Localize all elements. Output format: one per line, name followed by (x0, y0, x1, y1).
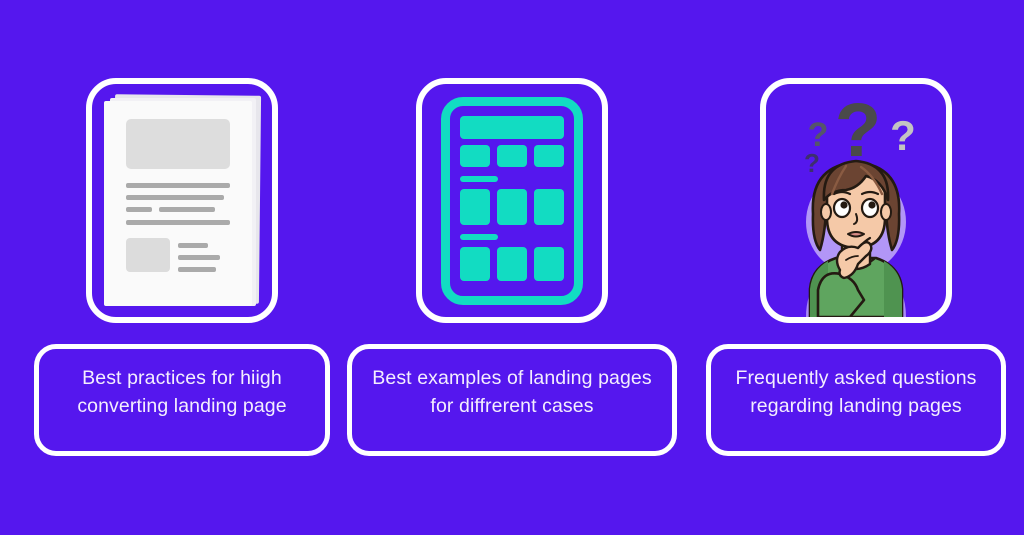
icon-tile-wireframe-layout[interactable] (416, 78, 608, 323)
wireframe-bottom-block (460, 247, 490, 281)
document-text-line (126, 183, 230, 188)
question-mark-small: ? (804, 148, 820, 178)
wireframe-header-bar (460, 116, 564, 139)
wireframe-small-block (497, 145, 527, 167)
wireframe-medium-block (497, 189, 527, 225)
document-text-line (178, 255, 220, 260)
card-label: Best practices for hiigh converting land… (67, 365, 296, 420)
document-text-line (126, 195, 224, 200)
wireframe-rule-line (460, 176, 498, 182)
wireframe-bottom-block (497, 247, 527, 281)
document-text-line (126, 220, 230, 225)
card-column-best-practices: Best practices for hiigh converting land… (32, 0, 332, 535)
document-text-line (178, 243, 208, 248)
wireframe-inner (460, 116, 564, 286)
text-card-best-practices[interactable]: Best practices for hiigh converting land… (34, 344, 330, 456)
wireframe-medium-block (460, 189, 490, 225)
icon-tile-document-stack[interactable] (86, 78, 278, 323)
card-label: Best examples of landing pages for diffr… (362, 365, 661, 420)
thinking-person-icon: ? ? ? ? (766, 84, 946, 317)
svg-text:?: ? (804, 148, 820, 178)
document-page-front (104, 101, 252, 306)
card-column-best-examples: Best examples of landing pages for diffr… (362, 0, 662, 535)
document-text-line (159, 207, 215, 212)
document-text-line (126, 207, 152, 212)
card-label: Frequently asked questions regarding lan… (725, 365, 986, 420)
question-mark-right: ? (890, 112, 916, 159)
document-hero-block (126, 119, 230, 169)
wireframe-rule-line (460, 234, 498, 240)
wireframe-layout-icon (441, 97, 583, 305)
document-text-line (178, 267, 216, 272)
text-card-faq[interactable]: Frequently asked questions regarding lan… (706, 344, 1006, 456)
wireframe-small-block (534, 145, 564, 167)
wireframe-medium-block (534, 189, 564, 225)
svg-text:?: ? (890, 112, 916, 159)
icon-tile-inner: ? ? ? ? (766, 84, 946, 317)
wireframe-small-block (460, 145, 490, 167)
icon-tile-inner (92, 84, 272, 317)
slide-canvas: Best practices for hiigh converting land… (0, 0, 1024, 535)
icon-tile-inner (422, 84, 602, 317)
wireframe-bottom-block (534, 247, 564, 281)
document-stack-icon (102, 93, 262, 308)
icon-tile-thinking-person[interactable]: ? ? ? ? (760, 78, 952, 323)
document-thumbnail-block (126, 238, 170, 272)
text-card-best-examples[interactable]: Best examples of landing pages for diffr… (347, 344, 677, 456)
card-column-faq: ? ? ? ? (706, 0, 1006, 535)
